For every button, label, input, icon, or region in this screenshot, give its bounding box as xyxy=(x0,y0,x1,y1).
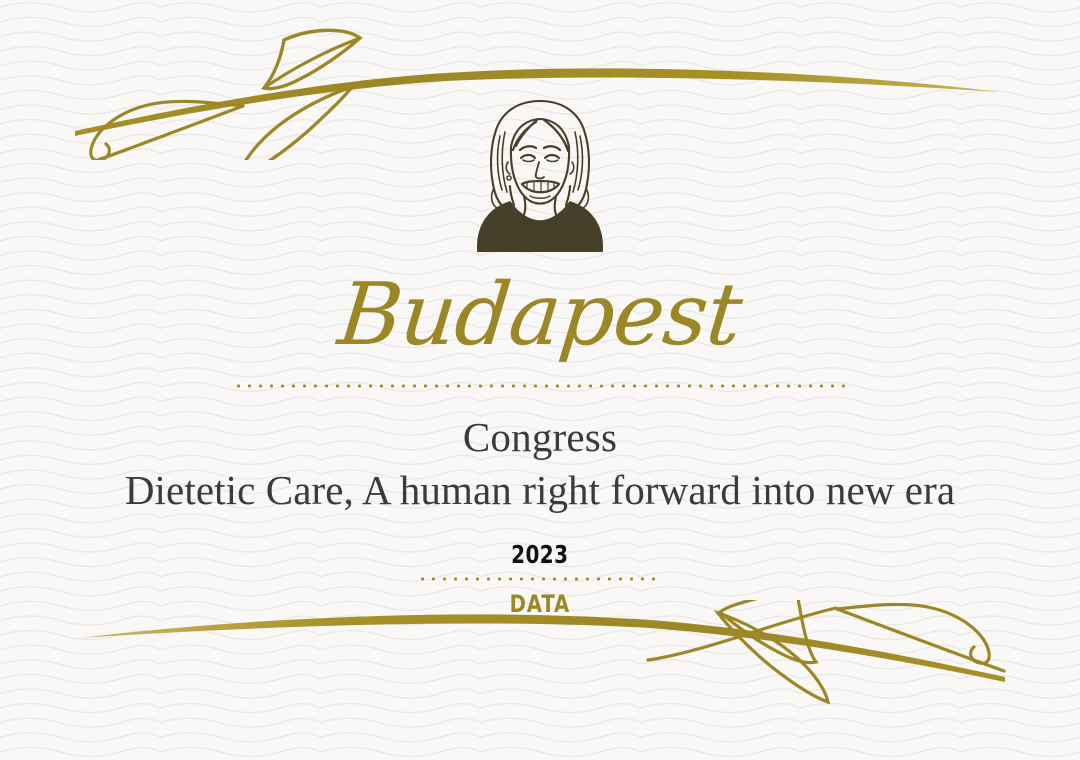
event-subtitle: Dietetic Care, A human right forward int… xyxy=(125,467,955,514)
certificate-card: Budapest Congress Dietetic Care, A human… xyxy=(0,0,1080,760)
data-label: DATA xyxy=(510,592,570,616)
city-script-title: Budapest xyxy=(335,272,746,358)
dotted-divider-top xyxy=(233,384,847,388)
event-type-heading: Congress xyxy=(463,414,617,461)
year-label: 2023 xyxy=(511,542,568,567)
woman-portrait-icon xyxy=(464,92,616,252)
dotted-divider-bottom xyxy=(417,577,663,581)
card-content: Budapest Congress Dietetic Care, A human… xyxy=(0,0,1080,760)
